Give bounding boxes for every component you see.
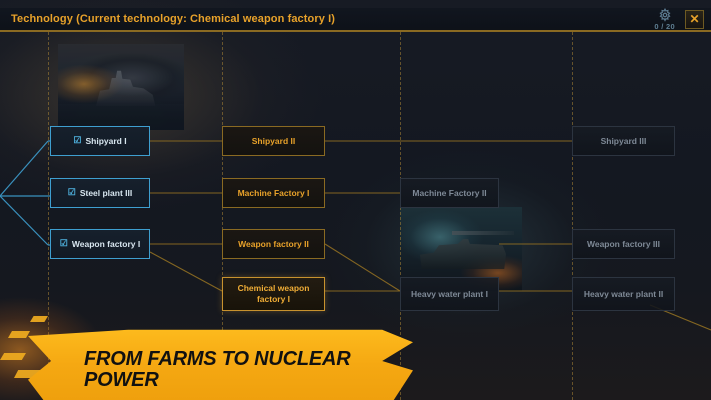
tech-node-weapon-factory-1[interactable]: ☑ Weapon factory I — [50, 229, 150, 259]
research-points-meter: 0 / 20 — [654, 8, 675, 31]
tech-node-label: Shipyard III — [601, 136, 647, 147]
tech-node-label: Weapon factory III — [587, 239, 660, 250]
tech-node-shipyard-2[interactable]: Shipyard II — [222, 126, 325, 156]
checked-icon: ☑ — [60, 238, 68, 249]
tech-node-label: Heavy water plant II — [584, 289, 663, 300]
checked-icon: ☑ — [68, 187, 76, 198]
tech-node-label: Weapon factory II — [238, 239, 309, 250]
promo-banner-line-2: POWER — [84, 370, 384, 392]
tech-node-label: Steel plant III — [80, 188, 132, 199]
checked-icon: ☑ — [73, 135, 81, 146]
tech-node-chemical-weapon-factory-1[interactable]: Chemical weapon factory I — [222, 277, 325, 311]
tech-node-weapon-factory-3[interactable]: Weapon factory III — [572, 229, 675, 259]
tech-node-label: Weapon factory I — [72, 239, 140, 250]
close-icon: ✕ — [689, 13, 699, 25]
tech-node-heavy-water-plant-2[interactable]: Heavy water plant II — [572, 277, 675, 311]
tech-node-label: Chemical weapon factory I — [229, 283, 318, 304]
column-separator-4 — [572, 32, 573, 400]
tech-node-label: Machine Factory I — [238, 188, 310, 199]
tech-node-label: Machine Factory II — [412, 188, 486, 199]
tech-node-weapon-factory-2[interactable]: Weapon factory II — [222, 229, 325, 259]
research-points-count: 0 / 20 — [654, 22, 675, 31]
window-title-bar: Technology (Current technology: Chemical… — [0, 8, 711, 32]
technology-screen: Technology (Current technology: Chemical… — [0, 0, 711, 400]
gear-icon — [658, 8, 672, 22]
promo-banner-text: FROM FARMS TO NUCLEAR POWER — [84, 349, 384, 392]
tech-node-label: Heavy water plant I — [411, 289, 488, 300]
tech-node-shipyard-3[interactable]: Shipyard III — [572, 126, 675, 156]
tech-node-label: Shipyard II — [252, 136, 295, 147]
titlebar-controls: 0 / 20 ✕ — [654, 8, 711, 31]
promo-banner-line-1: FROM FARMS TO NUCLEAR — [84, 349, 384, 371]
tech-node-label: Shipyard I — [85, 136, 126, 147]
tech-node-shipyard-1[interactable]: ☑ Shipyard I — [50, 126, 150, 156]
close-button[interactable]: ✕ — [685, 10, 704, 29]
page-title: Technology (Current technology: Chemical… — [11, 13, 335, 25]
battleship-artwork — [58, 44, 184, 130]
tech-node-machine-factory-2[interactable]: Machine Factory II — [400, 178, 499, 208]
banner-shard — [0, 353, 26, 360]
tech-node-machine-factory-1[interactable]: Machine Factory I — [222, 178, 325, 208]
tech-node-steel-plant-3[interactable]: ☑ Steel plant III — [50, 178, 150, 208]
tech-node-heavy-water-plant-1[interactable]: Heavy water plant I — [400, 277, 499, 311]
